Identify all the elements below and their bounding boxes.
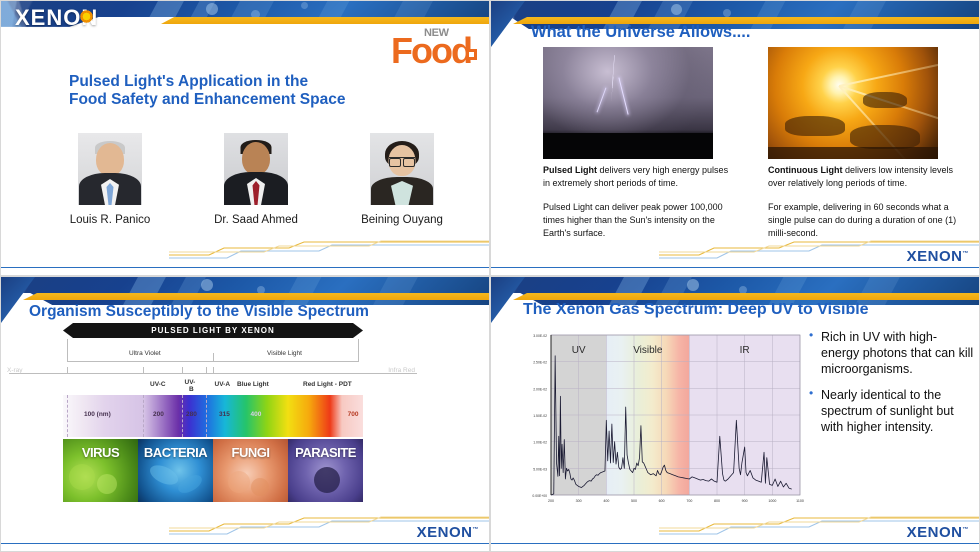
newfood-logo-square-icon (466, 49, 477, 60)
organism-fungi-label: FUNGI (232, 445, 270, 460)
header-gold-band (161, 17, 489, 24)
svg-text:1.50E-02: 1.50E-02 (533, 414, 547, 418)
scale-280: 280 (186, 411, 197, 418)
newfood-logo: Food NEW (391, 25, 477, 73)
slide-xenon-gas-spectrum: The Xenon Gas Spectrum: Deep UV to Visib… (490, 276, 980, 552)
bullet-item: Rich in UV with high-energy photons that… (809, 329, 974, 377)
caption-para2: For example, delivering in 60 seconds wh… (768, 201, 958, 240)
slide4-bullet-list: Rich in UV with high-energy photons that… (809, 329, 974, 445)
svg-text:1000: 1000 (768, 499, 776, 503)
svg-text:2.50E-02: 2.50E-02 (533, 361, 547, 365)
newfood-logo-top: NEW (424, 27, 449, 39)
spectrum-chart-svg: 0.00E+005.00E-031.00E-021.50E-022.00E-02… (505, 327, 810, 517)
caption-lead: Pulsed Light (543, 165, 597, 175)
footer-step-lines (169, 239, 489, 261)
presenter-name: Dr. Saad Ahmed (203, 214, 309, 226)
presenter-item: Dr. Saad Ahmed (203, 133, 309, 226)
slide-organism-susceptibility: Organism Susceptibly to the Visible Spec… (0, 276, 490, 552)
bullet-item: Nearly identical to the spectrum of sunl… (809, 387, 974, 435)
tier-label-infrared: Infra Red (388, 367, 415, 374)
svg-text:0.00E+00: 0.00E+00 (532, 494, 547, 498)
svg-text:1100: 1100 (796, 499, 804, 503)
svg-text:2.00E-02: 2.00E-02 (533, 387, 547, 391)
tier-label-uva: UV-A (215, 381, 231, 388)
xenon-footer-logo: XENON™ (907, 524, 969, 541)
xenon-footer-logo-text: XENON (907, 524, 963, 541)
avatar (224, 133, 288, 205)
scale-200: 200 (153, 411, 164, 418)
slide-grid: XENON Food NEW Pulsed Light's Applicatio… (0, 0, 980, 552)
slide1-title-line1: Pulsed Light's Application in the (69, 73, 399, 91)
svg-text:3.00E-02: 3.00E-02 (533, 334, 547, 338)
organism-parasite-label: PARASITE (295, 445, 356, 460)
organism-fungi: FUNGI (213, 439, 288, 502)
svg-text:600: 600 (659, 499, 665, 503)
scale-700: 700 (348, 411, 359, 418)
slide-footer: XENON™ (491, 239, 979, 275)
svg-text:700: 700 (686, 499, 692, 503)
caption-lead: Continuous Light (768, 165, 842, 175)
svg-text:5.00E-03: 5.00E-03 (533, 467, 547, 471)
scale-315: 315 (219, 411, 230, 418)
presenter-name: Beining Ouyang (349, 214, 455, 226)
svg-text:800: 800 (714, 499, 720, 503)
avatar (78, 133, 142, 205)
organism-bacteria-label: BACTERIA (144, 445, 207, 460)
svg-text:UV: UV (572, 345, 586, 356)
header-gold-band (513, 293, 979, 300)
presenter-item: Louis R. Panico (57, 133, 163, 226)
pulsed-light-banner: PULSED LIGHT BY XENON (63, 323, 363, 338)
organism-virus-label: VIRUS (82, 445, 119, 460)
presenter-list: Louis R. Panico Dr. Saad Ahmed Beining O… (57, 133, 457, 226)
avatar (370, 133, 434, 205)
svg-text:IR: IR (740, 345, 750, 356)
organism-parasite: PARASITE (288, 439, 363, 502)
photo-row (543, 47, 963, 159)
presenter-item: Beining Ouyang (349, 133, 455, 226)
glasses-icon (389, 157, 415, 164)
header-gold-band (23, 293, 489, 300)
organism-image-row: VIRUS BACTERIA FUNGI PARASITE (63, 439, 363, 502)
svg-text:200: 200 (548, 499, 554, 503)
svg-text:1.00E-02: 1.00E-02 (533, 441, 547, 445)
xenon-footer-logo-text: XENON (417, 524, 473, 541)
slide2-title: What the Universe Allows.... (531, 23, 750, 42)
xenon-footer-logo-text: XENON (907, 248, 963, 265)
xenon-footer-logo: XENON™ (417, 524, 479, 541)
svg-text:400: 400 (603, 499, 609, 503)
scale-400: 400 (251, 411, 262, 418)
spectrum-tiers: Ultra Violet Visible Light X-ray Infra R… (63, 339, 363, 395)
svg-text:Visible: Visible (633, 345, 663, 356)
organism-bacteria: BACTERIA (138, 439, 213, 502)
tier-label-uvc: UV-C (150, 381, 166, 388)
slide3-title: Organism Susceptibly to the Visible Spec… (29, 303, 369, 321)
tier-label-visible: Visible Light (267, 350, 302, 357)
tier-label-red-light-pdt: Red Light - PDT (303, 381, 352, 388)
pulsed-light-banner-label: PULSED LIGHT BY XENON (151, 326, 275, 335)
xenon-spectrum-chart: 0.00E+005.00E-031.00E-021.50E-022.00E-02… (505, 327, 810, 517)
slide-what-the-universe-allows: What the Universe Allows.... Pulsed Ligh… (490, 0, 980, 276)
xenon-sunburst-icon (79, 9, 94, 24)
svg-text:500: 500 (631, 499, 637, 503)
tier-label-xray: X-ray (7, 367, 23, 374)
header-band (1, 277, 489, 305)
xenon-footer-logo: XENON™ (907, 248, 969, 265)
slide-footer: XENON™ (491, 515, 979, 551)
lightning-storm-photo (543, 47, 713, 159)
organism-virus: VIRUS (63, 439, 138, 502)
slide1-title-line2: Food Safety and Enhancement Space (69, 91, 399, 109)
spectrum-figure: PULSED LIGHT BY XENON Ultra Violet Visib… (63, 323, 363, 502)
continuous-light-caption: Continuous Light delivers low intensity … (768, 164, 958, 240)
slide4-title: The Xenon Gas Spectrum: Deep UV to Visib… (523, 301, 869, 320)
tier-label-blue-light: Blue Light (237, 381, 269, 388)
pulsed-light-caption: Pulsed Light delivers very high energy p… (543, 164, 733, 240)
caption-para2: Pulsed Light can deliver peak power 100,… (543, 201, 733, 240)
slide-footer: XENON™ (1, 515, 489, 551)
slide-footer (1, 239, 489, 275)
slide-title: XENON Food NEW Pulsed Light's Applicatio… (0, 0, 490, 276)
spectrum-color-band: 100 (nm) 200 280 315 400 700 (63, 395, 363, 437)
svg-text:900: 900 (742, 499, 748, 503)
sun-photo (768, 47, 938, 159)
presenter-name: Louis R. Panico (57, 214, 163, 226)
tier-label-uvb-1: UV- (185, 379, 196, 386)
scale-100nm: 100 (nm) (84, 411, 111, 418)
tier-label-uvb-2: B (189, 386, 194, 393)
svg-text:300: 300 (576, 499, 582, 503)
slide1-title: Pulsed Light's Application in the Food S… (69, 73, 399, 110)
tier-label-ultraviolet: Ultra Violet (129, 350, 161, 357)
